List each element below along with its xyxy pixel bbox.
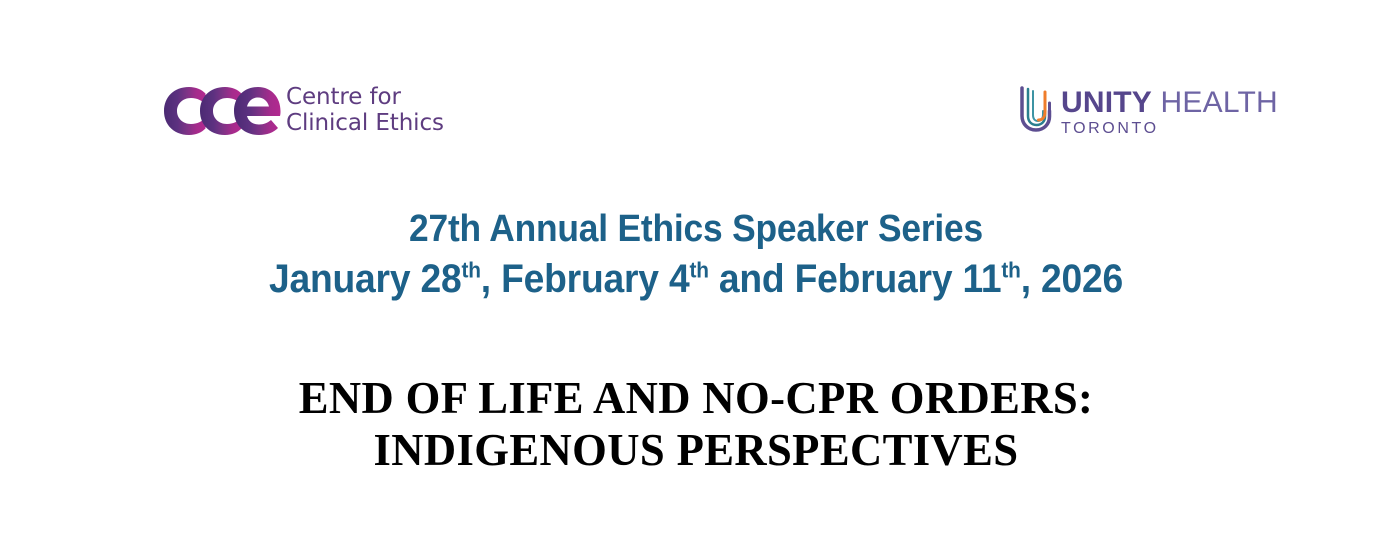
cce-wordmark-line2: Clinical Ethics [286, 111, 444, 137]
series-date-3-ordinal: th [1001, 258, 1020, 283]
series-date-2: February 4 [501, 257, 689, 301]
unity-leaf-icon [1018, 86, 1052, 132]
cce-logo: Centre for Clinical Ethics [163, 84, 444, 137]
series-date-3: February 11 [795, 257, 1002, 301]
series-date-1: January 28 [269, 257, 462, 301]
toronto-word: TORONTO [1061, 120, 1278, 138]
series-heading-block: 27th Annual Ethics Speaker Series Januar… [0, 205, 1392, 305]
cce-mark-icon [163, 86, 281, 136]
event-headline-line1: END OF LIFE AND NO-CPR ORDERS: [21, 372, 1371, 424]
poster-page: Centre for Clinical Ethics [0, 0, 1392, 537]
unity-word: UNITY [1061, 86, 1152, 119]
unity-health-line1: UNITY HEALTH [1061, 88, 1278, 118]
event-headline: END OF LIFE AND NO-CPR ORDERS: INDIGENOU… [0, 372, 1392, 476]
series-date-separator-1: , [481, 257, 501, 301]
cce-wordmark: Centre for Clinical Ethics [286, 84, 444, 137]
series-year: , 2026 [1021, 257, 1123, 301]
series-date-separator-2: and [709, 257, 795, 301]
unity-health-toronto-logo: UNITY HEALTH TORONTO [1018, 86, 1278, 138]
series-dates: January 28th, February 4th and February … [49, 253, 1344, 305]
series-date-1-ordinal: th [462, 258, 481, 283]
series-date-2-ordinal: th [689, 258, 708, 283]
logo-row: Centre for Clinical Ethics [0, 80, 1392, 150]
series-title: 27th Annual Ethics Speaker Series [49, 205, 1344, 253]
unity-health-wordmark: UNITY HEALTH TORONTO [1061, 86, 1278, 138]
cce-wordmark-line1: Centre for [286, 84, 401, 110]
health-word: HEALTH [1161, 86, 1278, 119]
event-headline-line2: INDIGENOUS PERSPECTIVES [21, 424, 1371, 476]
